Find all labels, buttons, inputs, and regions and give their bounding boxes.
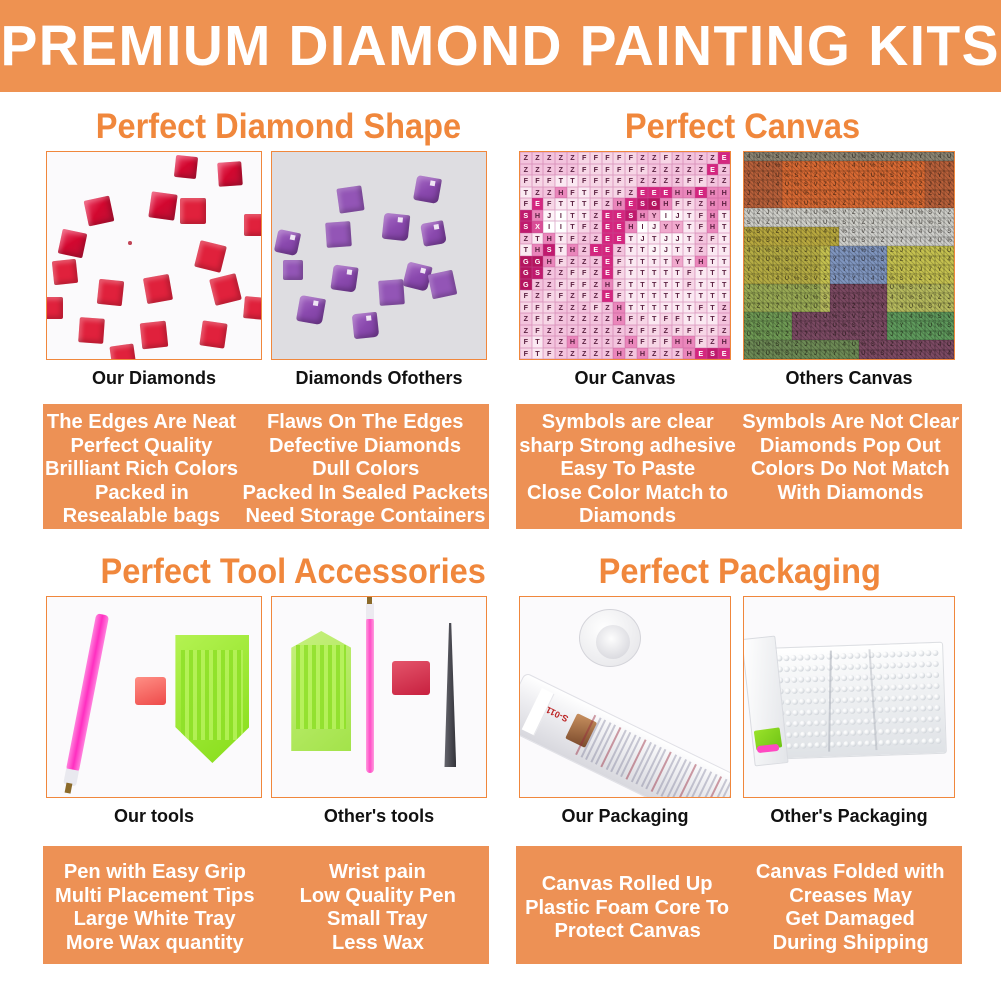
- canvas-muddy-cell: U: [944, 246, 954, 255]
- canvas-muddy-cell: %: [935, 321, 945, 330]
- canvas-muddy-cell: \: [782, 199, 792, 208]
- canvas-muddy-cell: Z: [792, 152, 802, 161]
- canvas-muddy-cell: Z: [868, 321, 878, 330]
- canvas-muddy-cell: V: [849, 218, 859, 227]
- panel-column-ours: Symbols are clear sharp Strong adhesive …: [516, 404, 739, 529]
- canvas-symbol-cell: Z: [718, 164, 730, 176]
- canvas-muddy-cell: U: [868, 265, 878, 274]
- canvas-symbol-cell: G: [520, 256, 532, 268]
- canvas-muddy-cell: 4: [868, 274, 878, 283]
- canvas-symbol-cell: F: [555, 290, 567, 302]
- bubble-wrap-cell: [899, 717, 905, 723]
- canvas-muddy-cell: V: [878, 152, 888, 161]
- canvas-muddy-cell: 7: [887, 227, 897, 236]
- canvas-muddy-cell: Z: [849, 303, 859, 312]
- canvas-muddy-cell: V: [792, 256, 802, 265]
- canvas-muddy-cell: S: [839, 312, 849, 321]
- canvas-muddy-cell: J: [935, 284, 945, 293]
- canvas-muddy-cell: Z: [839, 293, 849, 302]
- canvas-muddy-cell: %: [839, 321, 849, 330]
- canvas-muddy-cell: S: [773, 246, 783, 255]
- canvas-symbol-cell: T: [660, 279, 672, 291]
- canvas-muddy-cell: 7: [763, 199, 773, 208]
- canvas-muddy-cell: J: [925, 180, 935, 189]
- canvas-symbol-cell: T: [672, 302, 684, 314]
- canvas-muddy-cell: %: [944, 237, 954, 246]
- canvas-symbol-cell: Z: [555, 313, 567, 325]
- bubble-wrap-cell: [813, 676, 819, 682]
- canvas-muddy-cell: J: [801, 152, 811, 161]
- canvas-symbol-cell: F: [648, 325, 660, 337]
- bubble-wrap-cell: [784, 655, 790, 661]
- canvas-muddy-cell: 4: [925, 331, 935, 340]
- canvas-muddy-cell: J: [782, 321, 792, 330]
- canvas-muddy-cell: V: [801, 265, 811, 274]
- bubble-wrap-cell: [913, 705, 919, 711]
- canvas-muddy-cell: J: [811, 256, 821, 265]
- canvas-muddy-cell: \: [820, 237, 830, 246]
- canvas-symbol-cell: Z: [578, 313, 590, 325]
- canvas-symbol-cell: J: [672, 233, 684, 245]
- canvas-symbol-cell: Y: [672, 256, 684, 268]
- canvas-symbol-cell: Z: [567, 325, 579, 337]
- canvas-muddy-cell: Y: [782, 208, 792, 217]
- canvas-symbol-cell: Z: [695, 233, 707, 245]
- bubble-wrap-cell: [849, 707, 855, 713]
- canvas-muddy-cell: S: [782, 350, 792, 359]
- bubble-wrap-cell: [898, 673, 904, 679]
- canvas-muddy-cell: V: [859, 227, 869, 236]
- canvas-muddy-cell: J: [897, 246, 907, 255]
- canvas-symbol-cell: E: [648, 187, 660, 199]
- canvas-symbol-cell: Z: [532, 279, 544, 291]
- canvas-muddy-cell: 7: [839, 274, 849, 283]
- canvas-muddy-cell: V: [906, 180, 916, 189]
- wax-square: [392, 661, 430, 695]
- symbol-canvas-artwork: ZZZZZFFFFFZZFZZZZEZZZZZFFFFFFZZZZZEZFFFT…: [520, 152, 730, 359]
- bubble-wrap-cell: [800, 698, 806, 704]
- canvas-muddy-cell: S: [754, 321, 764, 330]
- canvas-symbol-cell: F: [695, 336, 707, 348]
- bubble-wrap-cell: [786, 710, 792, 716]
- canvas-muddy-cell: Y: [878, 208, 888, 217]
- canvas-symbol-cell: T: [637, 244, 649, 256]
- bubble-wrap-cell: [900, 739, 906, 745]
- bubble-wrap-cell: [926, 661, 932, 667]
- canvas-symbol-cell: T: [567, 221, 579, 233]
- bubble-wrap-cell: [821, 697, 827, 703]
- bubble-wrap-cell: [848, 663, 854, 669]
- canvas-symbol-cell: T: [637, 256, 649, 268]
- bubble-wrap-cell: [911, 650, 917, 656]
- canvas-muddy-cell: V: [944, 218, 954, 227]
- canvas-symbol-cell: Z: [683, 164, 695, 176]
- facet-highlight: [433, 224, 439, 230]
- canvas-muddy-cell: %: [782, 265, 792, 274]
- canvas-symbol-cell: T: [660, 256, 672, 268]
- canvas-muddy-cell: 7: [868, 303, 878, 312]
- canvas-muddy-cell: 7: [773, 303, 783, 312]
- canvas-symbol-cell: F: [555, 256, 567, 268]
- canvas-muddy-cell: %: [849, 331, 859, 340]
- canvas-muddy-cell: J: [859, 208, 869, 217]
- canvas-muddy-cell: Y: [754, 180, 764, 189]
- canvas-muddy-cell: \: [811, 227, 821, 236]
- bubble-wrap-cell: [836, 730, 842, 736]
- canvas-symbol-cell: F: [613, 164, 625, 176]
- bubble-wrap-cell: [791, 665, 797, 671]
- bubble-wrap-cell: [926, 672, 932, 678]
- canvas-muddy-cell: 7: [782, 218, 792, 227]
- diamond-drill: [148, 192, 177, 221]
- canvas-muddy-cell: J: [782, 227, 792, 236]
- canvas-muddy-cell: %: [773, 256, 783, 265]
- canvas-muddy-cell: S: [906, 190, 916, 199]
- canvas-symbol-cell: T: [648, 233, 660, 245]
- canvas-muddy-cell: 4: [744, 246, 754, 255]
- canvas-muddy-cell: Y: [763, 190, 773, 199]
- tray-ridges: [296, 645, 346, 729]
- canvas-muddy-cell: 4: [782, 284, 792, 293]
- canvas-symbol-cell: E: [602, 244, 614, 256]
- canvas-muddy-cell: Z: [820, 180, 830, 189]
- canvas-muddy-cell: %: [906, 199, 916, 208]
- canvas-muddy-cell: 4: [754, 256, 764, 265]
- canvas-muddy-cell: %: [763, 340, 773, 349]
- canvas-muddy-cell: \: [773, 190, 783, 199]
- canvas-symbol-cell: Z: [707, 336, 719, 348]
- diamond-drill: [180, 198, 206, 224]
- bubble-wrap-cell: [907, 727, 913, 733]
- canvas-symbol-cell: Z: [707, 175, 719, 187]
- panel-column-theirs: Canvas Folded with Creases May Get Damag…: [739, 846, 962, 964]
- canvas-symbol-cell: H: [625, 336, 637, 348]
- bubble-wrap-cell: [933, 671, 939, 677]
- canvas-muddy-cell: U: [744, 331, 754, 340]
- canvas-muddy-cell: Y: [935, 171, 945, 180]
- canvas-muddy-cell: J: [801, 340, 811, 349]
- canvas-symbol-cell: T: [637, 302, 649, 314]
- canvas-symbol-cell: J: [660, 244, 672, 256]
- canvas-muddy-cell: S: [820, 293, 830, 302]
- bubble-wrap-cell: [834, 686, 840, 692]
- canvas-symbol-cell: T: [672, 290, 684, 302]
- canvas-symbol-cell: J: [648, 221, 660, 233]
- canvas-symbol-cell: T: [648, 290, 660, 302]
- canvas-muddy-cell: S: [744, 218, 754, 227]
- canvas-muddy-cell: \: [820, 331, 830, 340]
- canvas-muddy-cell: Y: [935, 265, 945, 274]
- canvas-muddy-cell: J: [820, 265, 830, 274]
- canvas-symbol-cell: Z: [625, 325, 637, 337]
- bubble-wrap-cell: [843, 730, 849, 736]
- canvas-symbol-cell: T: [637, 267, 649, 279]
- canvas-muddy-cell: U: [782, 180, 792, 189]
- bubble-wrap-cell: [787, 743, 793, 749]
- canvas-muddy-cell: \: [906, 227, 916, 236]
- canvas-muddy-cell: J: [754, 293, 764, 302]
- canvas-muddy-cell: %: [763, 246, 773, 255]
- canvas-symbol-cell: F: [695, 221, 707, 233]
- panel-line: Canvas Rolled Up: [542, 872, 713, 896]
- diamond-drill: [217, 162, 243, 188]
- canvas-muddy-cell: 7: [944, 284, 954, 293]
- bubble-wrap-cell: [886, 739, 892, 745]
- canvas-muddy-cell: 4: [859, 265, 869, 274]
- bubble-wrap-cell: [893, 739, 899, 745]
- panel-line: During Shipping: [772, 931, 928, 955]
- canvas-muddy-cell: 7: [878, 312, 888, 321]
- canvas-muddy-cell: S: [830, 208, 840, 217]
- canvas-muddy-cell: %: [897, 190, 907, 199]
- canvas-symbol-cell: Z: [590, 279, 602, 291]
- canvas-symbol-cell: F: [613, 187, 625, 199]
- canvas-muddy-cell: Z: [754, 303, 764, 312]
- canvas-muddy-cell: \: [763, 180, 773, 189]
- canvas-symbol-cell: T: [683, 313, 695, 325]
- canvas-symbol-cell: F: [683, 325, 695, 337]
- canvas-symbol-cell: Z: [637, 152, 649, 164]
- canvas-symbol-cell: Z: [520, 325, 532, 337]
- canvas-muddy-cell: V: [868, 237, 878, 246]
- canvas-symbol-cell: F: [602, 187, 614, 199]
- canvas-muddy-cell: \: [878, 293, 888, 302]
- bubble-wrap-cell: [935, 715, 941, 721]
- canvas-muddy-cell: 7: [906, 152, 916, 161]
- canvas-symbol-cell: T: [578, 198, 590, 210]
- canvas-muddy-cell: Y: [763, 284, 773, 293]
- canvas-symbol-cell: Z: [590, 233, 602, 245]
- canvas-muddy-cell: \: [744, 161, 754, 170]
- bubble-wrap-cell: [801, 742, 807, 748]
- canvas-muddy-cell: %: [878, 265, 888, 274]
- canvas-muddy-cell: Z: [744, 199, 754, 208]
- canvas-muddy-cell: Z: [801, 256, 811, 265]
- bubble-wrap-cell: [928, 727, 934, 733]
- photo-others-canvas: 4U%SVZJ7Y\4U%SVZJ7Y\4U\4U%SVZJ7Y\4U%SVZJ…: [743, 151, 955, 360]
- canvas-symbol-cell: Z: [602, 325, 614, 337]
- canvas-muddy-cell: %: [849, 237, 859, 246]
- canvas-muddy-cell: Y: [754, 274, 764, 283]
- canvas-symbol-cell: T: [555, 244, 567, 256]
- canvas-symbol-cell: F: [567, 187, 579, 199]
- canvas-symbol-cell: Z: [567, 348, 579, 360]
- canvas-muddy-cell: %: [754, 331, 764, 340]
- canvas-muddy-cell: \: [811, 321, 821, 330]
- canvas-muddy-cell: V: [878, 340, 888, 349]
- canvas-muddy-cell: %: [925, 312, 935, 321]
- canvas-muddy-cell: %: [811, 293, 821, 302]
- canvas-symbol-cell: H: [672, 336, 684, 348]
- canvas-muddy-cell: U: [849, 340, 859, 349]
- canvas-muddy-cell: Y: [792, 218, 802, 227]
- canvas-symbol-cell: H: [625, 221, 637, 233]
- our-tools-artwork: [47, 597, 261, 797]
- panel-tool-accessories: Pen with Easy Grip Multi Placement Tips …: [43, 846, 489, 964]
- bubble-wrap-cell: [885, 706, 891, 712]
- diamond-drill: [143, 274, 173, 304]
- canvas-muddy-cell: S: [801, 180, 811, 189]
- bubble-wrap-cell: [851, 740, 857, 746]
- canvas-muddy-cell: U: [801, 293, 811, 302]
- canvas-muddy-cell: Y: [859, 190, 869, 199]
- canvas-muddy-cell: %: [811, 199, 821, 208]
- canvas-muddy-cell: Y: [944, 274, 954, 283]
- canvas-muddy-cell: U: [820, 218, 830, 227]
- canvas-muddy-cell: 4: [839, 246, 849, 255]
- bubble-wrap-cell: [836, 741, 842, 747]
- canvas-symbol-cell: E: [602, 210, 614, 222]
- bubble-wrap-cell: [843, 741, 849, 747]
- canvas-symbol-cell: F: [707, 233, 719, 245]
- canvas-symbol-cell: Z: [707, 152, 719, 164]
- canvas-symbol-cell: H: [718, 198, 730, 210]
- canvas-muddy-cell: S: [792, 171, 802, 180]
- canvas-symbol-cell: F: [578, 164, 590, 176]
- canvas-symbol-cell: Z: [660, 175, 672, 187]
- bubble-wrap-cell: [914, 727, 920, 733]
- canvas-muddy-cell: %: [887, 180, 897, 189]
- canvas-symbol-cell: F: [707, 325, 719, 337]
- bubble-wrap-cell: [935, 726, 941, 732]
- canvas-muddy-cell: %: [830, 218, 840, 227]
- canvas-muddy-cell: U: [925, 227, 935, 236]
- canvas-symbol-cell: F: [695, 302, 707, 314]
- canvas-muddy-cell: S: [754, 227, 764, 236]
- bubble-wrap-cell: [842, 697, 848, 703]
- canvas-muddy-cell: Z: [754, 208, 764, 217]
- bubble-wrap-cell: [933, 660, 939, 666]
- canvas-muddy-cell: U: [801, 199, 811, 208]
- canvas-muddy-cell: U: [925, 321, 935, 330]
- canvas-symbol-cell: F: [602, 164, 614, 176]
- bubble-wrap-cell: [835, 708, 841, 714]
- canvas-symbol-cell: I: [660, 210, 672, 222]
- canvas-symbol-cell: F: [613, 279, 625, 291]
- canvas-muddy-cell: 4: [887, 199, 897, 208]
- canvas-muddy-cell: V: [868, 331, 878, 340]
- bubble-wrap-cell: [806, 687, 812, 693]
- canvas-muddy-cell: U: [773, 265, 783, 274]
- bubble-wrap-cell: [920, 716, 926, 722]
- canvas-muddy-cell: 4: [944, 350, 954, 359]
- canvas-symbol-cell: I: [555, 221, 567, 233]
- canvas-muddy-cell: Y: [830, 256, 840, 265]
- canvas-symbol-cell: H: [637, 210, 649, 222]
- canvas-symbol-cell: F: [578, 221, 590, 233]
- bubble-wrap-cell: [787, 732, 793, 738]
- canvas-muddy-cell: V: [820, 284, 830, 293]
- canvas-muddy-cell: J: [754, 199, 764, 208]
- canvas-symbol-cell: Z: [543, 187, 555, 199]
- bubble-wrap-cell: [935, 737, 941, 743]
- canvas-muddy-cell: %: [878, 171, 888, 180]
- caption-other-tools: Other's tools: [271, 806, 487, 827]
- bubble-wrap-cell: [807, 720, 813, 726]
- canvas-symbol-cell: Z: [590, 336, 602, 348]
- canvas-muddy-cell: S: [906, 284, 916, 293]
- canvas-muddy-cell: 7: [830, 265, 840, 274]
- canvas-muddy-cell: 4: [839, 152, 849, 161]
- canvas-symbol-cell: Z: [520, 164, 532, 176]
- canvas-muddy-cell: U: [792, 284, 802, 293]
- canvas-symbol-cell: T: [648, 279, 660, 291]
- canvas-symbol-cell: F: [602, 152, 614, 164]
- facet-highlight: [346, 269, 352, 275]
- canvas-symbol-cell: T: [660, 267, 672, 279]
- canvas-muddy-cell: %: [744, 321, 754, 330]
- bubble-wrap-cell: [920, 705, 926, 711]
- canvas-symbol-cell: F: [532, 313, 544, 325]
- panel-line: Multi Placement Tips: [55, 884, 254, 908]
- canvas-muddy-cell: \: [792, 303, 802, 312]
- canvas-muddy-cell: Y: [792, 312, 802, 321]
- canvas-symbol-cell: Z: [613, 244, 625, 256]
- canvas-muddy-cell: Z: [773, 227, 783, 236]
- canvas-symbol-cell: E: [613, 233, 625, 245]
- canvas-symbol-cell: Z: [532, 187, 544, 199]
- canvas-symbol-cell: H: [543, 256, 555, 268]
- canvas-muddy-cell: S: [763, 331, 773, 340]
- canvas-symbol-cell: Y: [660, 221, 672, 233]
- canvas-muddy-cell: Y: [849, 180, 859, 189]
- panel-line: Need Storage Containers: [245, 504, 485, 528]
- canvas-muddy-cell: J: [763, 303, 773, 312]
- canvas-symbol-cell: T: [660, 302, 672, 314]
- canvas-muddy-cell: J: [944, 293, 954, 302]
- canvas-muddy-cell: U: [763, 256, 773, 265]
- bubble-wrap-cell: [904, 650, 910, 656]
- bubble-wrap-cell: [934, 693, 940, 699]
- canvas-muddy-cell: \: [944, 171, 954, 180]
- canvas-muddy-cell: 4: [878, 190, 888, 199]
- pink-pen: [66, 613, 109, 773]
- canvas-muddy-cell: \: [849, 265, 859, 274]
- diamond-drill: [244, 214, 262, 236]
- bubble-wrap-cell: [849, 696, 855, 702]
- canvas-muddy-cell: 7: [935, 274, 945, 283]
- pink-pen-thin: [366, 617, 374, 773]
- canvas-symbol-cell: T: [718, 290, 730, 302]
- panel-line: Wrist pain: [329, 860, 426, 884]
- canvas-symbol-cell: T: [683, 244, 695, 256]
- panel-line: Defective Diamonds: [269, 434, 461, 458]
- bubble-wrap-cell: [883, 651, 889, 657]
- panel-line: Packed In Sealed Packets: [243, 481, 489, 505]
- canvas-symbol-cell: Z: [555, 336, 567, 348]
- canvas-symbol-cell: Z: [718, 325, 730, 337]
- panel-column-theirs: Flaws On The Edges Defective Diamonds Du…: [240, 404, 491, 529]
- canvas-muddy-cell: Z: [916, 274, 926, 283]
- canvas-symbol-cell: F: [567, 279, 579, 291]
- bubble-wrap-cell: [806, 676, 812, 682]
- canvas-symbol-cell: I: [637, 221, 649, 233]
- bubble-wrap-cell: [805, 654, 811, 660]
- canvas-muddy-cell: 4: [897, 208, 907, 217]
- canvas-symbol-cell: Z: [567, 313, 579, 325]
- canvas-symbol-cell: T: [707, 256, 719, 268]
- canvas-muddy-cell: 7: [859, 199, 869, 208]
- diamond-drill: [330, 264, 358, 292]
- canvas-symbol-cell: Z: [695, 198, 707, 210]
- bubble-wrap-cell: [819, 653, 825, 659]
- canvas-symbol-cell: S: [520, 221, 532, 233]
- diamond-drill: [194, 240, 227, 273]
- diamond-drill: [58, 228, 88, 258]
- photo-our-packaging: S-011: [519, 596, 731, 798]
- canvas-muddy-cell: 4: [897, 303, 907, 312]
- canvas-muddy-cell: V: [935, 303, 945, 312]
